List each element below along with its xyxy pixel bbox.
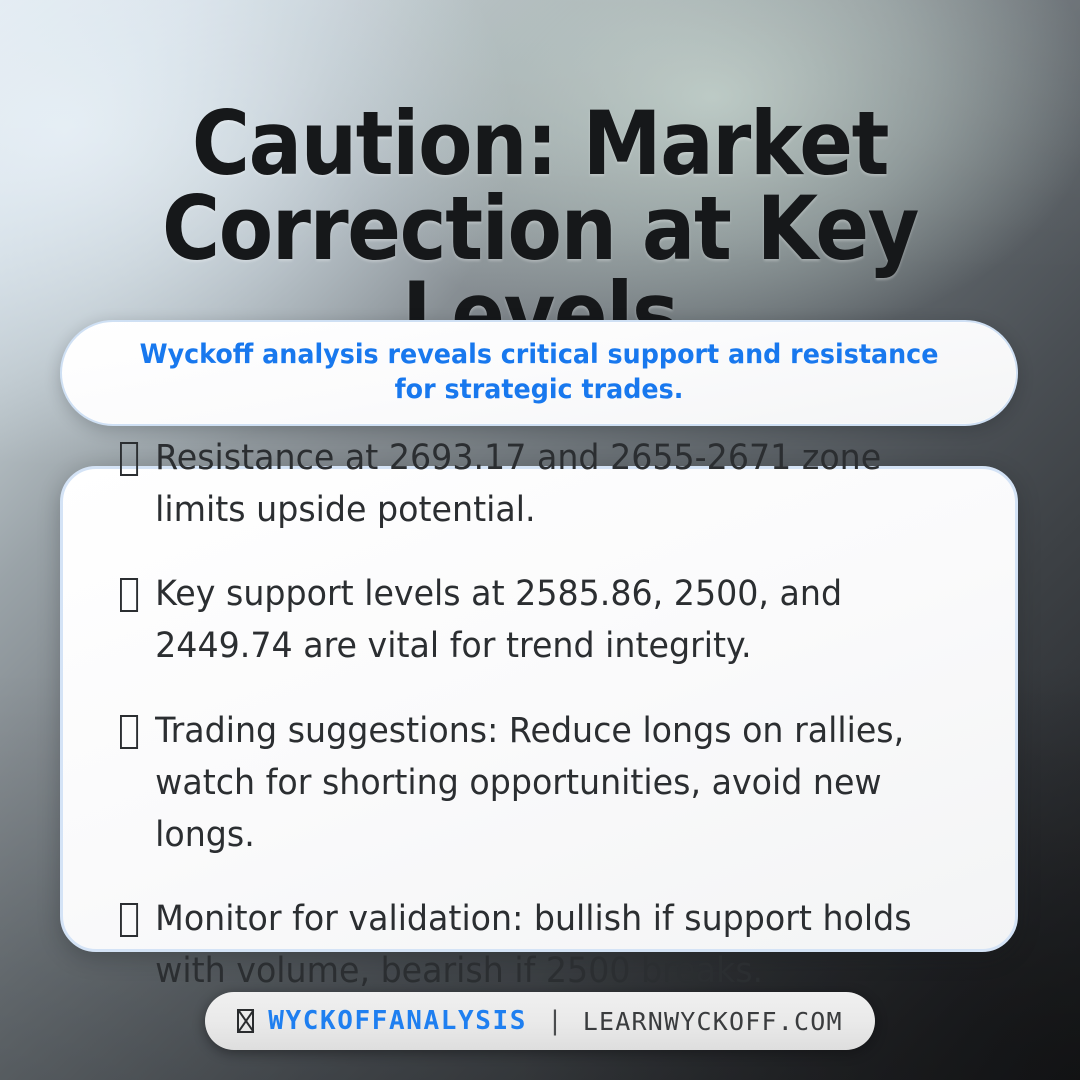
missing-glyph-box-icon (120, 903, 138, 937)
page-title: Caution: Market Correction at Key Levels (108, 101, 972, 357)
missing-glyph-box-icon (120, 715, 138, 749)
list-item-label: Monitor for validation: bullish if suppo… (155, 893, 927, 997)
list-item: Monitor for validation: bullish if suppo… (120, 893, 928, 997)
subtitle-card: Wyckoff analysis reveals critical suppor… (60, 320, 1018, 426)
social-post-poster: Caution: Market Correction at Key Levels… (0, 0, 1080, 1080)
footer-separator: | (541, 1006, 569, 1036)
list-item: Trading suggestions: Reduce longs on ral… (120, 705, 928, 861)
list-item: Resistance at 2693.17 and 2655-2671 zone… (120, 432, 928, 536)
missing-glyph-box-icon (120, 578, 138, 612)
list-item-label: Trading suggestions: Reduce longs on ral… (155, 705, 927, 861)
subtitle-text: Wyckoff analysis reveals critical suppor… (140, 338, 939, 407)
list-item: Key support levels at 2585.86, 2500, and… (120, 568, 928, 672)
footer-handle: WYCKOFFANALYSIS (268, 1006, 527, 1036)
missing-glyph-box-icon (120, 442, 138, 476)
bullets-list: Resistance at 2693.17 and 2655-2671 zone… (120, 432, 970, 997)
missing-glyph-crossed-box-icon (237, 1009, 254, 1033)
footer-branding-bar: WYCKOFFANALYSIS | LEARNWYCKOFF.COM (205, 992, 875, 1050)
footer-domain: LEARNWYCKOFF.COM (583, 1007, 843, 1036)
list-item-label: Resistance at 2693.17 and 2655-2671 zone… (155, 432, 927, 536)
list-item-label: Key support levels at 2585.86, 2500, and… (155, 568, 927, 672)
